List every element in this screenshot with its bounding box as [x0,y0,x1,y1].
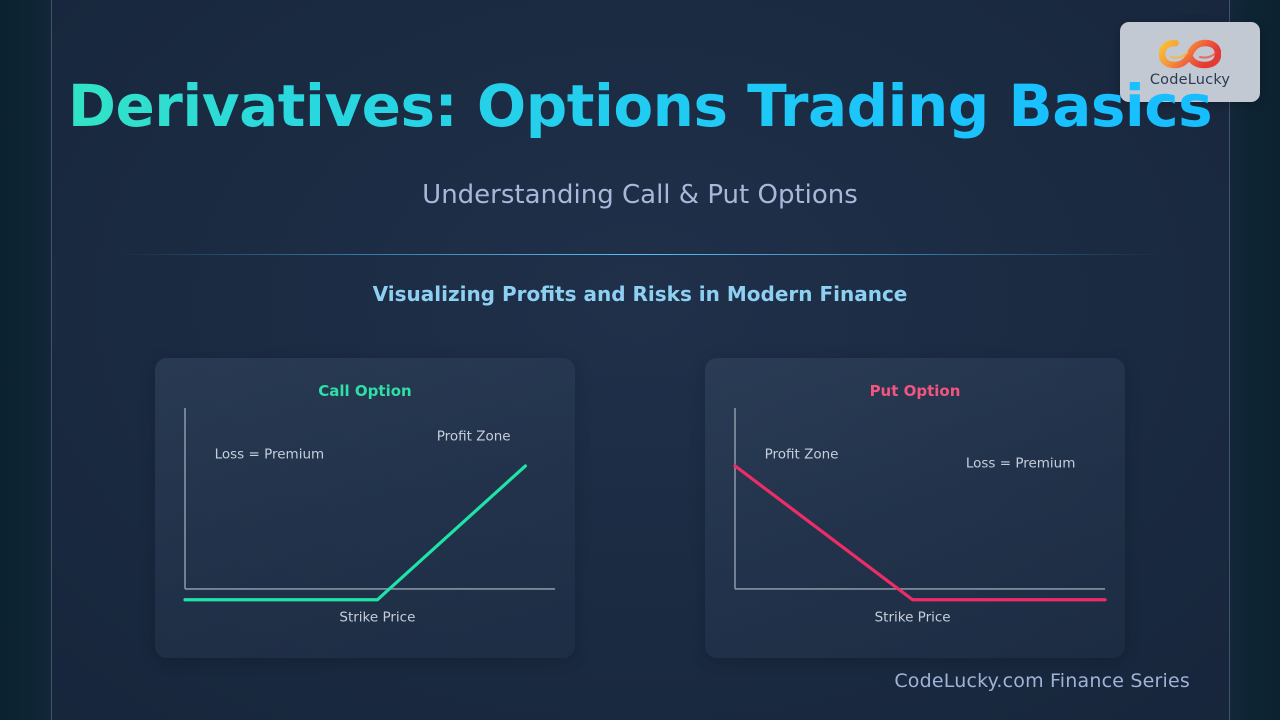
section-heading: Visualizing Profits and Risks in Modern … [0,282,1280,306]
payoff-line-call [185,466,525,600]
page-title: Derivatives: Options Trading Basics [0,72,1280,140]
axis-lines-put [735,408,1105,589]
footer-text: CodeLucky.com Finance Series [894,670,1190,692]
page-subtitle: Understanding Call & Put Options [0,180,1280,210]
chart-card-put-option[interactable]: Put Option Profit Zone Loss = Premium St… [705,358,1125,658]
payoff-line-put [735,466,1105,600]
annotation-loss-premium-put: Loss = Premium [966,456,1076,472]
annotation-profit-zone-call: Profit Zone [437,429,511,445]
annotation-loss-premium-call: Loss = Premium [215,447,325,463]
axis-label-strike-price-put: Strike Price [875,609,951,625]
annotation-profit-zone-put: Profit Zone [765,447,839,463]
call-option-payoff-chart: Loss = Premium Profit Zone Strike Price [155,358,575,658]
slide-canvas: CodeLucky Derivatives: Options Trading B… [0,0,1280,720]
chart-card-call-option[interactable]: Call Option Loss = Premium Profit Zone S… [155,358,575,658]
axis-label-strike-price-call: Strike Price [339,609,415,625]
header-divider [115,254,1165,255]
put-option-payoff-chart: Profit Zone Loss = Premium Strike Price [705,358,1125,658]
infinity-icon [1159,37,1221,71]
